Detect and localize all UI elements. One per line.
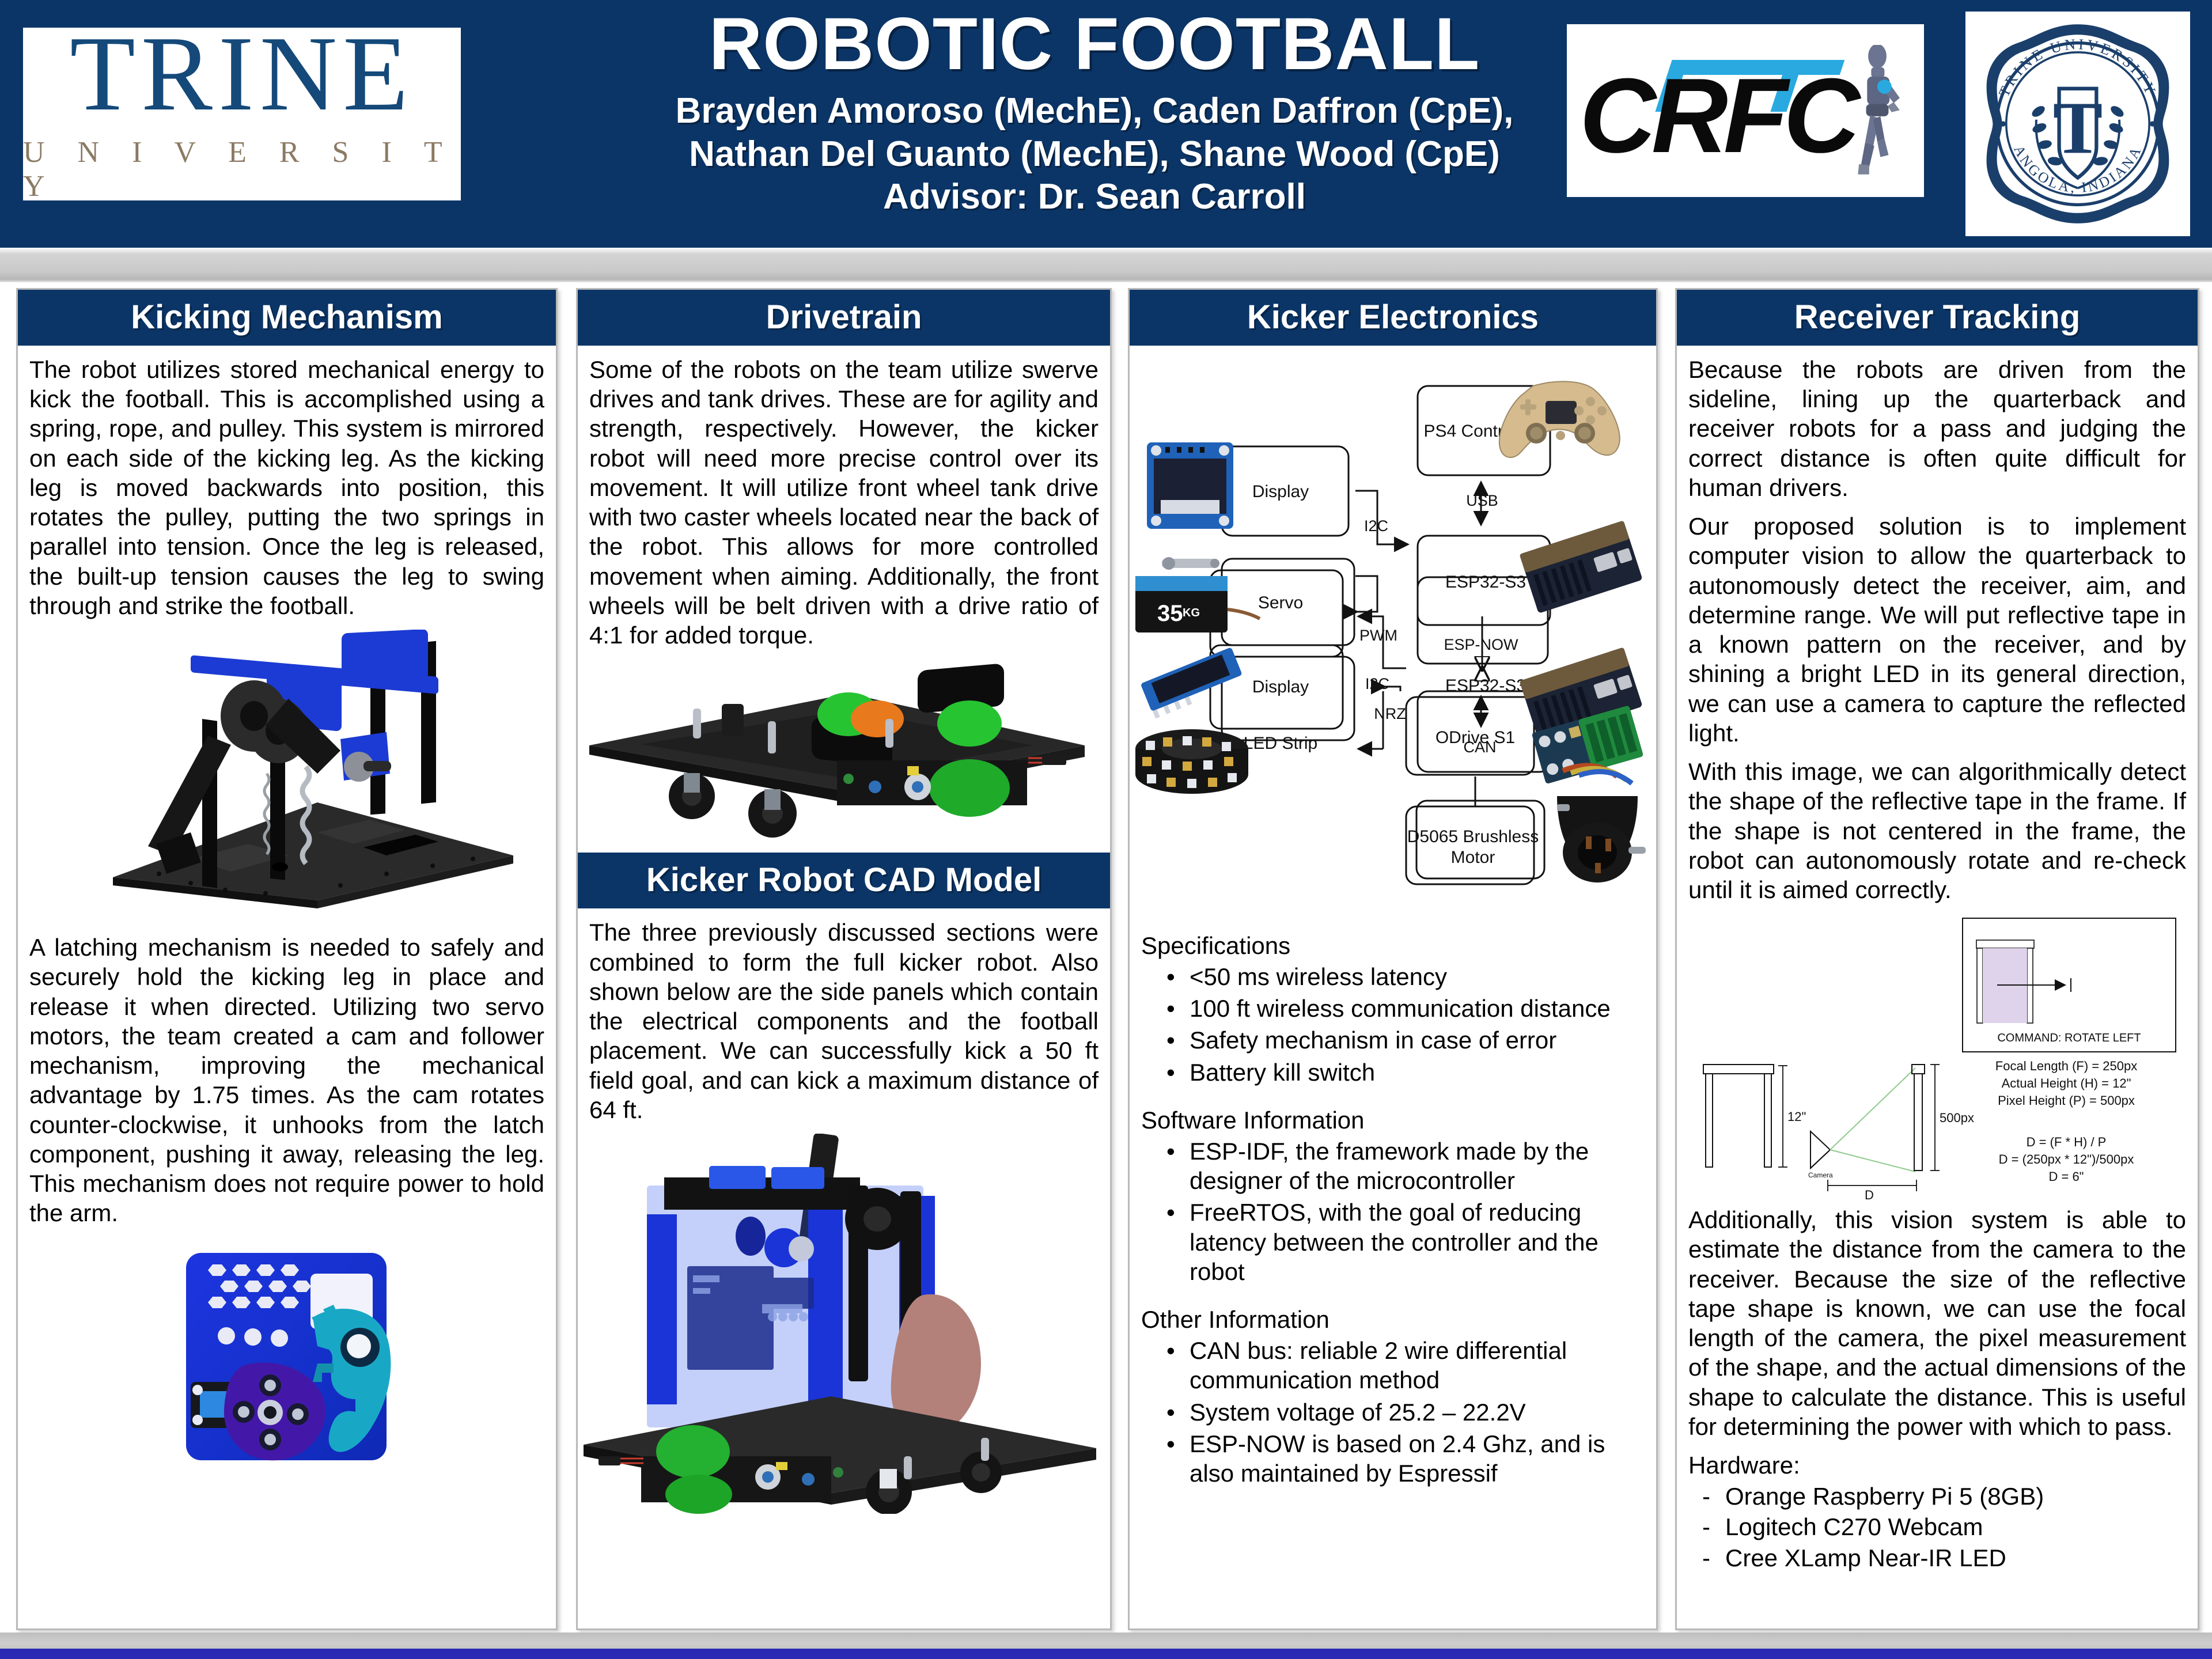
poster-header: TRINE U N I V E R S I T Y ROBOTIC FOOTBA… (0, 0, 2212, 248)
dim-distance-label: D (1865, 1188, 1874, 1202)
poster-title-block: ROBOTIC FOOTBALL Brayden Amoroso (MechE)… (622, 5, 1567, 218)
other-information-heading: Other Information (1141, 1306, 1656, 1334)
receiver-tracking-paragraph-2: Our proposed solution is to implement co… (1688, 512, 2186, 748)
dim-pixels-label: 500px (1940, 1111, 1974, 1125)
poster-bottom-accent (0, 1649, 2212, 1659)
list-item: Cree XLamp Near-IR LED (1700, 1543, 2186, 1573)
receiver-tracking-paragraph-1: Because the robots are driven from the s… (1688, 355, 2186, 502)
full-kicker-robot-svg (578, 1134, 1108, 1514)
svg-text:Pixel Height (P) = 500px: Pixel Height (P) = 500px (1998, 1093, 2135, 1108)
svg-text:Motor: Motor (1451, 848, 1495, 867)
list-item: Orange Raspberry Pi 5 (8GB) (1700, 1482, 2186, 1511)
kicker-robot-cad-paragraph: The three previously discussed sections … (578, 908, 1110, 1124)
svg-text:LED Strip: LED Strip (1244, 734, 1317, 753)
svg-text:Actual Height (H) = 12": Actual Height (H) = 12" (2002, 1076, 2131, 1090)
svg-text:D = (250px * 12")/500px: D = (250px * 12")/500px (1999, 1152, 2134, 1166)
command-label: COMMAND: ROTATE LEFT (1997, 1032, 2141, 1044)
receiver-tracking-text: Because the robots are driven from the s… (1677, 346, 2198, 904)
seal-graphic: TRINE UNIVERSITY ANGOLA, INDIANA (1974, 20, 2181, 228)
authors-line-1: Brayden Amoroso (MechE), Caden Daffron (… (622, 90, 1567, 132)
section-heading-kicker-electronics: Kicker Electronics (1130, 290, 1656, 346)
svg-text:T: T (2053, 87, 2103, 169)
svg-text:USB: USB (1466, 492, 1498, 509)
range-estimation-svg: COMMAND: ROTATE LEFT 12" (1677, 914, 2190, 1202)
running-robot-icon (1846, 45, 1909, 177)
list-item: <50 ms wireless latency (1164, 962, 1645, 991)
software-information-heading: Software Information (1141, 1107, 1656, 1134)
software-information-list: ESP-IDF, the framework made by the desig… (1143, 1137, 1656, 1286)
list-item: Logitech C270 Webcam (1700, 1512, 2186, 1541)
page-title: ROBOTIC FOOTBALL (622, 5, 1567, 84)
advisor-line: Advisor: Dr. Sean Carroll (622, 176, 1567, 218)
crfc-logo-text: CRFC (1580, 54, 1855, 176)
section-heading-drivetrain: Drivetrain (578, 290, 1110, 346)
svg-text:35: 35 (1157, 601, 1183, 626)
kicking-mechanism-cad-svg (18, 630, 554, 918)
list-item: CAN bus: reliable 2 wire differential co… (1164, 1336, 1645, 1395)
section-heading-kicker-robot-cad: Kicker Robot CAD Model (578, 853, 1110, 908)
list-item: Battery kill switch (1164, 1058, 1645, 1087)
hardware-list: Orange Raspberry Pi 5 (8GB) Logitech C27… (1677, 1482, 2198, 1573)
svg-text:PWM: PWM (1359, 627, 1397, 644)
section-heading-kicking-mechanism: Kicking Mechanism (18, 290, 556, 346)
svg-text:D5065 Brushless: D5065 Brushless (1407, 827, 1539, 846)
hardware-heading: Hardware: (1688, 1452, 2198, 1479)
header-divider-strip (0, 248, 2212, 282)
list-item: System voltage of 25.2 – 22.2V (1164, 1397, 1645, 1427)
svg-text:Servo: Servo (1258, 593, 1303, 612)
drivetrain-chassis-svg (578, 659, 1108, 849)
trine-university-logo: TRINE U N I V E R S I T Y (23, 28, 461, 200)
section-kicking-mechanism: Kicking Mechanism The robot utilizes sto… (16, 288, 558, 1630)
kicking-mechanism-paragraph-1: The robot utilizes stored mechanical ene… (18, 346, 556, 620)
receiver-tracking-paragraph-4-wrap: Additionally, this vision system is able… (1677, 1202, 2198, 1441)
other-information-list: CAN bus: reliable 2 wire differential co… (1143, 1336, 1656, 1488)
svg-text:Focal Length (F) = 250px: Focal Length (F) = 250px (1995, 1059, 2137, 1073)
svg-text:Display: Display (1252, 677, 1309, 696)
svg-text:Display: Display (1252, 482, 1309, 501)
authors-block: Brayden Amoroso (MechE), Caden Daffron (… (622, 90, 1567, 218)
section-receiver-tracking: Receiver Tracking Because the robots are… (1675, 288, 2199, 1630)
poster-columns: Kicking Mechanism The robot utilizes sto… (0, 288, 2212, 1630)
trine-logo-wordmark: TRINE (70, 25, 414, 123)
led-strip-photo (1135, 729, 1248, 794)
oled-display-photo-1 (1147, 442, 1233, 529)
trine-university-seal: TRINE UNIVERSITY ANGOLA, INDIANA (1965, 12, 2190, 236)
section-kicker-electronics: Kicker Electronics (1128, 288, 1658, 1630)
camera-range-estimation-diagram: COMMAND: ROTATE LEFT 12" (1677, 914, 2198, 1202)
section-heading-receiver-tracking: Receiver Tracking (1677, 290, 2198, 346)
dim-height-label: 12" (1787, 1109, 1806, 1124)
kicking-mechanism-cad-render (18, 630, 556, 918)
svg-text:ESP32-S3: ESP32-S3 (1445, 573, 1526, 592)
svg-text:CAN: CAN (1463, 738, 1496, 756)
electronics-diagram-svg: PS4 Controller Display ESP32-S3 Servo ES… (1130, 346, 1648, 922)
svg-text:I2C: I2C (1364, 517, 1388, 535)
poster-root: TRINE U N I V E R S I T Y ROBOTIC FOOTBA… (0, 0, 2212, 1659)
receiver-tracking-paragraph-3: With this image, we can algorithmically … (1688, 757, 2186, 904)
svg-text:NRZ: NRZ (1374, 705, 1406, 722)
svg-text:D = (F * H) / P: D = (F * H) / P (2027, 1135, 2107, 1149)
receiver-tracking-paragraph-4: Additionally, this vision system is able… (1688, 1205, 2186, 1441)
svg-text:KG: KG (1183, 607, 1200, 619)
drivetrain-paragraph-1: Some of the robots on the team utilize s… (578, 346, 1110, 650)
latch-cam-follower-svg (18, 1237, 554, 1484)
crfc-logo: CRFC (1567, 24, 1924, 197)
trine-logo-subtitle: U N I V E R S I T Y (23, 135, 461, 203)
kicker-electronics-block-diagram: PS4 Controller Display ESP32-S3 Servo ES… (1130, 346, 1656, 922)
list-item: FreeRTOS, with the goal of reducing late… (1164, 1198, 1645, 1286)
latch-cam-follower-cad-render (18, 1237, 556, 1484)
drivetrain-chassis-cad-render (578, 659, 1110, 849)
authors-line-2: Nathan Del Guanto (MechE), Shane Wood (C… (622, 133, 1567, 176)
kicking-mechanism-paragraph-2: A latching mechanism is needed to safely… (18, 918, 556, 1228)
specifications-heading: Specifications (1141, 932, 1656, 960)
specifications-list: <50 ms wireless latency 100 ft wireless … (1143, 962, 1656, 1087)
list-item: ESP-NOW is based on 2.4 Ghz, and is also… (1164, 1429, 1645, 1488)
camera-frame-inset: COMMAND: ROTATE LEFT (1963, 918, 2176, 1052)
svg-text:ESP32-S3: ESP32-S3 (1445, 676, 1526, 695)
svg-text:ESP-NOW: ESP-NOW (1444, 636, 1518, 653)
svg-text:D = 6": D = 6" (2048, 1169, 2084, 1184)
svg-text:I2C: I2C (1365, 675, 1389, 692)
full-kicker-robot-cad-render (578, 1134, 1110, 1514)
section-drivetrain: Drivetrain Some of the robots on the tea… (576, 288, 1112, 1630)
list-item: Safety mechanism in case of error (1164, 1025, 1645, 1055)
list-item: 100 ft wireless communication distance (1164, 994, 1645, 1023)
camera-label: Camera (1808, 1171, 1833, 1179)
list-item: ESP-IDF, the framework made by the desig… (1164, 1137, 1645, 1195)
